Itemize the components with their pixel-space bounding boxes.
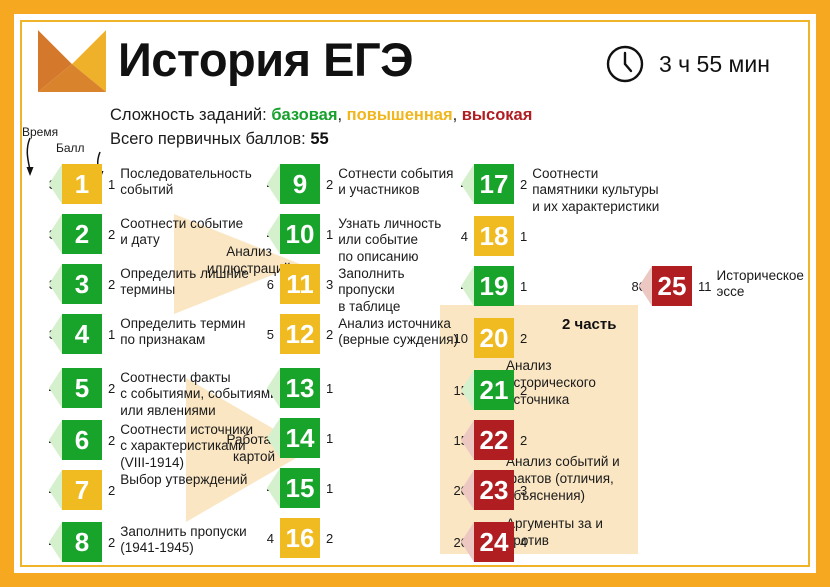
task-row: 212 bbox=[474, 370, 527, 410]
task-points: 1 bbox=[108, 327, 115, 342]
task-row: 222 bbox=[474, 420, 527, 460]
task-row: 82Заполнить пропуски (1941-1945) bbox=[62, 522, 247, 562]
task-description: Соотнести событие и дату bbox=[120, 216, 243, 249]
tile-tail bbox=[49, 164, 62, 204]
task-number-tile: 4 bbox=[62, 314, 102, 354]
task-number-tile: 15 bbox=[280, 468, 320, 508]
task-points: 1 bbox=[326, 481, 333, 496]
tile-tail bbox=[49, 314, 62, 354]
m-logo bbox=[38, 30, 106, 92]
task-points: 4 bbox=[520, 535, 527, 550]
task-description: Заполнить пропуски (1941-1945) bbox=[120, 524, 246, 557]
task-row: 92Сотнести события и участников bbox=[280, 164, 453, 204]
task-row: 131 bbox=[280, 368, 333, 408]
task-number-tile: 1 bbox=[62, 164, 102, 204]
task-description: Сотнести события и участников bbox=[338, 166, 453, 199]
task-time: 6 bbox=[250, 277, 274, 292]
task-number-tile: 13 bbox=[280, 368, 320, 408]
task-description: Определить лишние термины bbox=[120, 266, 249, 299]
task-description: Соотнести источники с характеристиками (… bbox=[120, 422, 253, 471]
task-time: 5 bbox=[250, 327, 274, 342]
task-number-tile: 2 bbox=[62, 214, 102, 254]
task-points: 2 bbox=[520, 433, 527, 448]
task-number-tile: 12 bbox=[280, 314, 320, 354]
task-points: 2 bbox=[326, 327, 333, 342]
task-row: 2511Историческое эссе bbox=[652, 266, 804, 306]
tile-tail bbox=[461, 370, 474, 410]
task-row: 141 bbox=[280, 418, 333, 458]
task-row: 32Определить лишние термины bbox=[62, 264, 249, 304]
task-description: Последовательность событий bbox=[120, 166, 252, 199]
clock-icon bbox=[605, 44, 645, 84]
page-title: История ЕГЭ bbox=[118, 32, 413, 87]
task-row: 202 bbox=[474, 318, 527, 358]
tile-tail bbox=[49, 368, 62, 408]
task-number-tile: 18 bbox=[474, 216, 514, 256]
task-time: 4 bbox=[250, 531, 274, 546]
task-number-tile: 25 bbox=[652, 266, 692, 306]
duration-text: 3 ч 55 мин bbox=[659, 51, 770, 78]
task-points: 1 bbox=[520, 279, 527, 294]
task-points: 3 bbox=[520, 483, 527, 498]
task-time: 4 bbox=[444, 229, 468, 244]
task-row: 181 bbox=[474, 216, 527, 256]
task-points: 2 bbox=[108, 277, 115, 292]
task-number-tile: 5 bbox=[62, 368, 102, 408]
sep-2: , bbox=[453, 106, 462, 124]
task-number-tile: 16 bbox=[280, 518, 320, 558]
task-description: Узнать личность или событие по описанию bbox=[338, 216, 441, 265]
task-row: 11Последовательность событий bbox=[62, 164, 252, 204]
task-points: 2 bbox=[108, 227, 115, 242]
task-number-tile: 7 bbox=[62, 470, 102, 510]
task-row: 41Определить термин по признакам bbox=[62, 314, 245, 354]
task-description: Выбор утверждений bbox=[120, 472, 247, 488]
task-number-tile: 23 bbox=[474, 470, 514, 510]
tile-tail bbox=[49, 264, 62, 304]
tile-tail bbox=[461, 164, 474, 204]
task-row: 101Узнать личность или событие по описан… bbox=[280, 214, 441, 265]
task-points: 2 bbox=[520, 177, 527, 192]
content-canvas: История ЕГЭ 3 ч 55 мин Сложность заданий… bbox=[22, 22, 808, 565]
tile-tail bbox=[267, 468, 280, 508]
tile-tail bbox=[461, 470, 474, 510]
task-number-tile: 21 bbox=[474, 370, 514, 410]
task-number-tile: 24 bbox=[474, 522, 514, 562]
difficulty-line: Сложность заданий: базовая, повышенная, … bbox=[110, 106, 532, 125]
task-number-tile: 14 bbox=[280, 418, 320, 458]
tile-tail bbox=[267, 418, 280, 458]
task-description: Определить термин по признакам bbox=[120, 316, 245, 349]
sep-1: , bbox=[337, 106, 346, 124]
task-points: 2 bbox=[326, 177, 333, 192]
task-number-tile: 9 bbox=[280, 164, 320, 204]
task-row: 72Выбор утверждений bbox=[62, 470, 247, 510]
task-points: 1 bbox=[108, 177, 115, 192]
task-row: 244 bbox=[474, 522, 527, 562]
total-points-value: 55 bbox=[310, 130, 328, 148]
task-number-tile: 19 bbox=[474, 266, 514, 306]
tile-tail bbox=[49, 470, 62, 510]
task-points: 2 bbox=[108, 483, 115, 498]
difficulty-high: высокая bbox=[462, 106, 533, 124]
task-points: 3 bbox=[326, 277, 333, 292]
tile-tail bbox=[461, 522, 474, 562]
task-number-tile: 8 bbox=[62, 522, 102, 562]
infographic-root: История ЕГЭ 3 ч 55 мин Сложность заданий… bbox=[0, 0, 830, 587]
difficulty-raised: повышенная bbox=[347, 106, 453, 124]
task-points: 1 bbox=[326, 227, 333, 242]
task-points: 1 bbox=[326, 381, 333, 396]
part2-title: 2 часть bbox=[562, 316, 616, 333]
task-number-tile: 20 bbox=[474, 318, 514, 358]
task-description: Заполнить пропуски в таблице bbox=[338, 266, 404, 315]
tile-tail bbox=[267, 214, 280, 254]
tile-tail bbox=[49, 420, 62, 460]
difficulty-label: Сложность заданий: bbox=[110, 106, 267, 124]
task-description: Историческое эссе bbox=[717, 268, 804, 301]
task-row: 172Соотнести памятники культуры и их хар… bbox=[474, 164, 659, 215]
task-number-tile: 17 bbox=[474, 164, 514, 204]
task-points: 2 bbox=[108, 535, 115, 550]
task-row: 113Заполнить пропуски в таблице bbox=[280, 264, 405, 315]
task-points: 1 bbox=[326, 431, 333, 446]
task-row: 122Анализ источника (верные суждения) bbox=[280, 314, 458, 354]
task-row: 191 bbox=[474, 266, 527, 306]
task-description: Соотнести памятники культуры и их характ… bbox=[532, 166, 659, 215]
tile-tail bbox=[49, 522, 62, 562]
task-number-tile: 3 bbox=[62, 264, 102, 304]
task-points: 2 bbox=[520, 383, 527, 398]
duration-block: 3 ч 55 мин bbox=[605, 44, 770, 84]
task-points: 2 bbox=[326, 531, 333, 546]
task-points: 1 bbox=[520, 229, 527, 244]
task-row: 22Соотнести событие и дату bbox=[62, 214, 243, 254]
task-number-tile: 6 bbox=[62, 420, 102, 460]
task-number-tile: 10 bbox=[280, 214, 320, 254]
task-points: 11 bbox=[698, 279, 712, 294]
tile-tail bbox=[639, 266, 652, 306]
difficulty-basic: базовая bbox=[271, 106, 337, 124]
task-row: 52Соотнести факты с событиями, событиями… bbox=[62, 368, 278, 419]
task-row: 151 bbox=[280, 468, 333, 508]
task-points: 2 bbox=[520, 331, 527, 346]
task-row: 233 bbox=[474, 470, 527, 510]
tile-tail bbox=[49, 214, 62, 254]
task-time: 10 bbox=[444, 331, 468, 346]
task-number-tile: 11 bbox=[280, 264, 320, 304]
tile-tail bbox=[461, 266, 474, 306]
task-points: 2 bbox=[108, 381, 115, 396]
task-number-tile: 22 bbox=[474, 420, 514, 460]
task-row: 62Соотнести источники с характеристиками… bbox=[62, 420, 253, 471]
tile-tail bbox=[267, 368, 280, 408]
tile-tail bbox=[267, 164, 280, 204]
task-description: Анализ источника (верные суждения) bbox=[338, 316, 458, 349]
tile-tail bbox=[461, 420, 474, 460]
task-row: 162 bbox=[280, 518, 333, 558]
task-points: 2 bbox=[108, 433, 115, 448]
